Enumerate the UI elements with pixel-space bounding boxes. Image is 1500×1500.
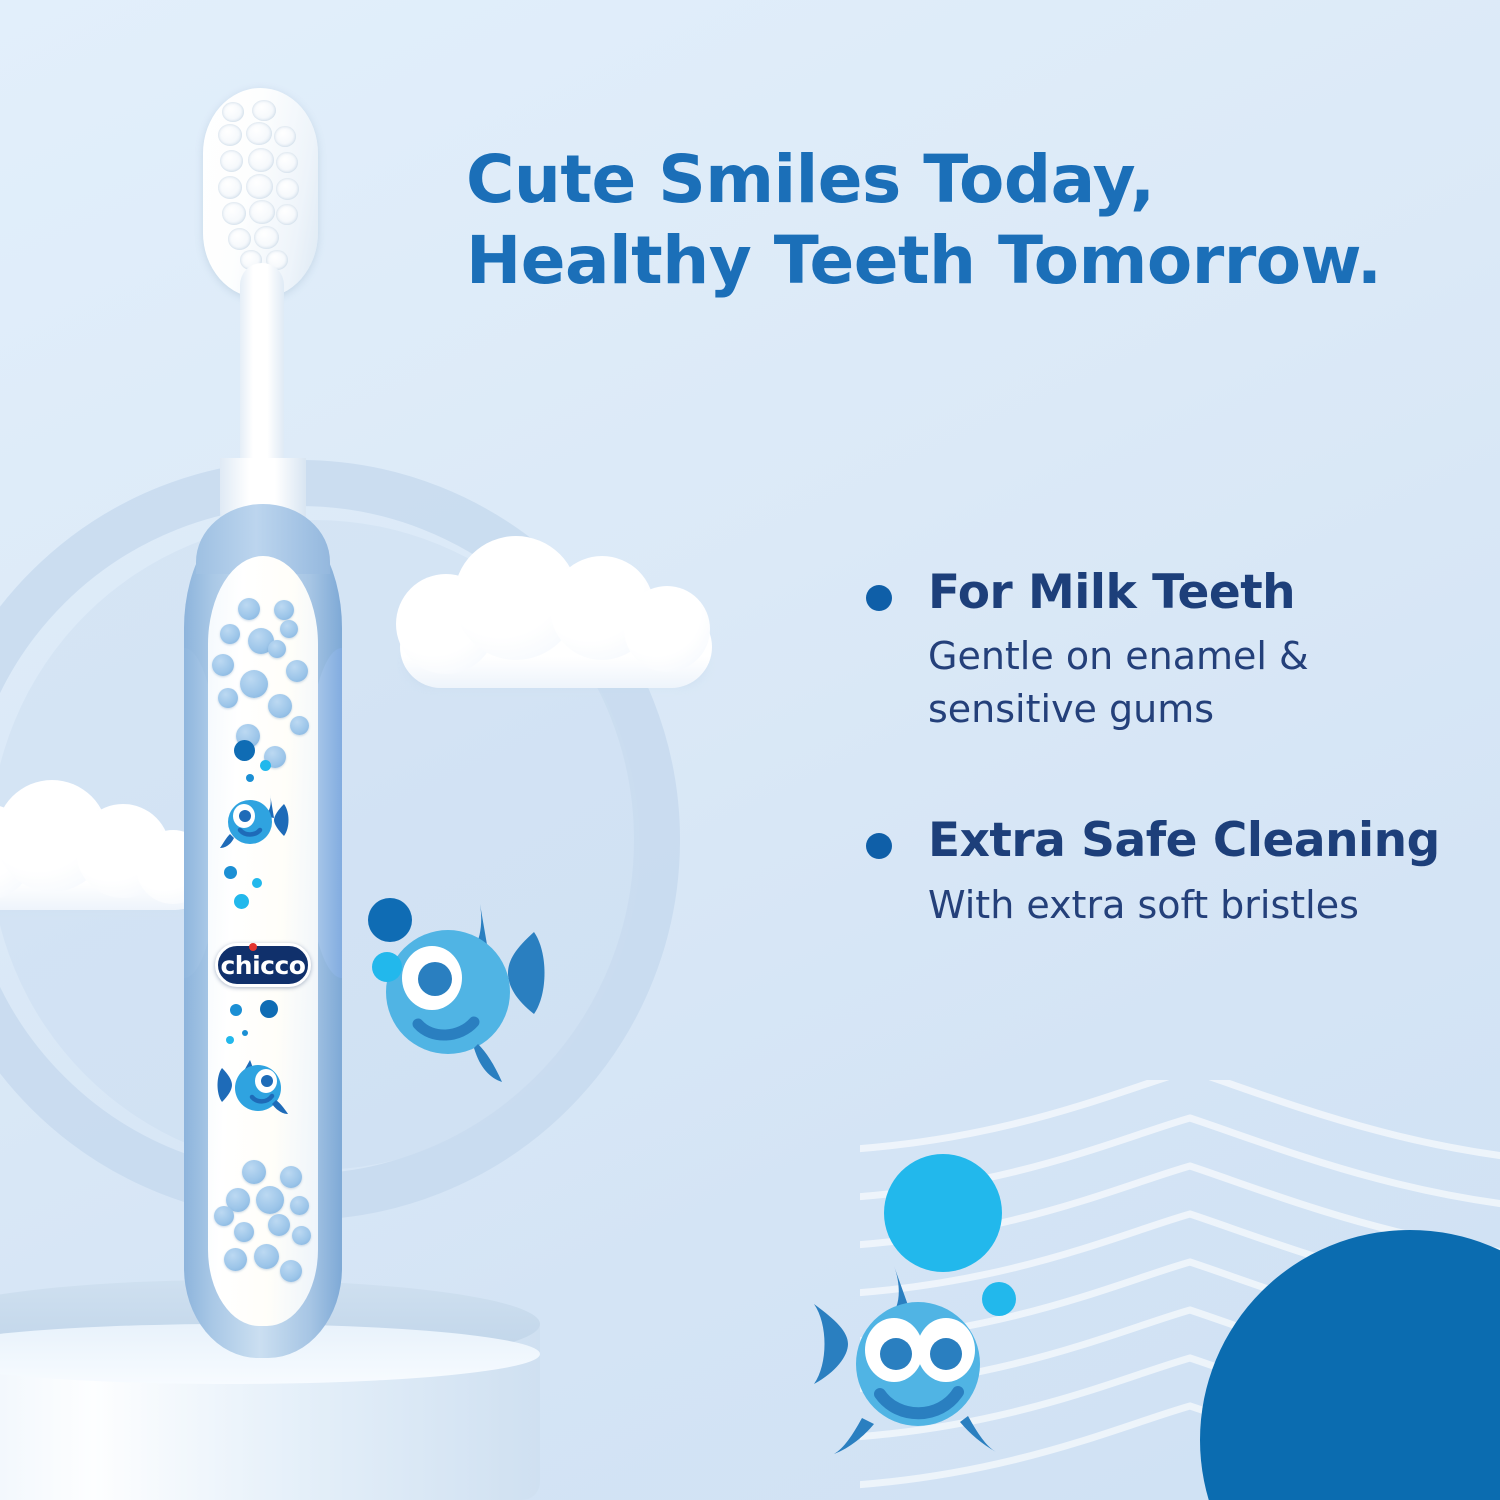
feature-description: With extra soft bristles <box>928 879 1428 931</box>
chicco-logo-dot <box>249 943 257 951</box>
feature-item-milk-teeth: For Milk Teeth Gentle on enamel & sensit… <box>866 565 1466 735</box>
feature-description: Gentle on enamel & sensitive gums <box>928 630 1428 735</box>
product-banner: chicco <box>0 0 1500 1500</box>
bubble <box>252 878 262 888</box>
bubble <box>246 774 254 782</box>
feature-title: Extra Safe Cleaning <box>928 813 1466 868</box>
fish-decal-upper <box>212 788 294 852</box>
bullet-icon <box>866 833 892 859</box>
bubble <box>226 1036 234 1044</box>
bubble <box>242 1030 248 1036</box>
feature-list: For Milk Teeth Gentle on enamel & sensit… <box>866 565 1466 931</box>
bubble <box>260 1000 278 1018</box>
bullet-icon <box>866 585 892 611</box>
headline-line-2: Healthy Teeth Tomorrow. <box>466 221 1466 302</box>
bubble <box>372 952 402 982</box>
fish-decal-lower <box>210 1050 296 1118</box>
feature-item-safe-cleaning: Extra Safe Cleaning With extra soft bris… <box>866 813 1466 931</box>
bubble <box>368 898 412 942</box>
bubble <box>224 866 237 879</box>
chicco-logo: chicco <box>215 943 311 987</box>
headline-line-1: Cute Smiles Today, <box>466 140 1466 221</box>
toothbrush-product: chicco <box>168 88 358 1378</box>
bubble <box>260 760 271 771</box>
headline: Cute Smiles Today, Healthy Teeth Tomorro… <box>466 140 1466 301</box>
bubble <box>234 740 255 761</box>
cloud-right <box>392 530 722 705</box>
bristles <box>216 100 306 276</box>
bubble <box>884 1154 1002 1272</box>
bubble <box>982 1282 1016 1316</box>
chicco-logo-text: chicco <box>220 953 305 978</box>
bubble <box>234 894 249 909</box>
feature-title: For Milk Teeth <box>928 565 1466 620</box>
bubble <box>230 1004 242 1016</box>
handle-grip-dots-lower <box>212 1156 316 1336</box>
